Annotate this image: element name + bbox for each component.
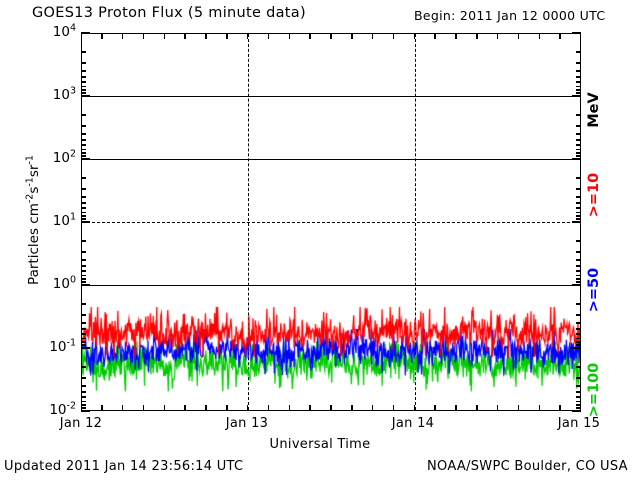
x-tick-top: [268, 33, 269, 39]
y-minor-tick: [81, 133, 86, 134]
x-tick-top: [101, 33, 102, 39]
y-minor-tick-right: [576, 322, 581, 323]
y-major-tick-right: [572, 410, 581, 411]
y-minor-tick-right: [576, 144, 581, 145]
y-minor-tick-right: [576, 404, 581, 405]
x-tick-bottom: [101, 405, 102, 411]
y-minor-tick: [81, 114, 86, 115]
y-minor-tick: [81, 322, 86, 323]
y-minor-tick: [81, 385, 86, 386]
y-tick-label-1e4: 104: [0, 26, 76, 40]
x-tick-top: [247, 33, 248, 39]
x-tick-bottom: [122, 405, 123, 411]
y-minor-tick-right: [576, 265, 581, 266]
y-axis-title-text-3: sr: [26, 165, 42, 178]
y-minor-tick: [81, 207, 86, 208]
y-minor-tick: [81, 139, 86, 140]
y-minor-tick-right: [576, 391, 581, 392]
y-minor-tick-right: [576, 114, 581, 115]
y-tick-label-1e3: 103: [0, 89, 76, 103]
y-minor-tick-right: [576, 212, 581, 213]
x-tick-bottom: [372, 405, 373, 411]
x-tick-bottom: [414, 405, 415, 411]
y-minor-tick-right: [576, 177, 581, 178]
y-minor-tick: [81, 155, 86, 156]
y-minor-tick-right: [576, 270, 581, 271]
y-minor-tick: [81, 333, 86, 334]
y-minor-tick: [81, 92, 86, 93]
y-minor-tick-right: [576, 86, 581, 87]
x-tick-bottom: [393, 405, 394, 411]
y-minor-tick-right: [576, 188, 581, 189]
y-major-tick: [81, 158, 90, 159]
y-minor-tick-right: [576, 215, 581, 216]
y-tick-label-1em1: 10-1: [0, 341, 76, 355]
y-minor-tick-right: [576, 259, 581, 260]
x-tick-top: [393, 33, 394, 39]
x-axis-title: Universal Time: [0, 437, 640, 452]
y-major-tick-right: [572, 221, 581, 222]
y-minor-tick: [81, 202, 86, 203]
y-minor-tick: [81, 270, 86, 271]
x-tick-top: [559, 33, 560, 39]
y-minor-tick-right: [576, 202, 581, 203]
y-tick-label-1e0: 100: [0, 278, 76, 292]
x-tick-bottom: [539, 405, 540, 411]
y-major-tick-right: [572, 284, 581, 285]
y-major-tick-right: [572, 158, 581, 159]
y-minor-tick: [81, 314, 86, 315]
x-tick-bottom: [164, 405, 165, 411]
y-minor-tick: [81, 338, 86, 339]
x-tick-bottom: [184, 405, 185, 411]
y-minor-tick: [81, 215, 86, 216]
y-minor-tick: [81, 177, 86, 178]
y-minor-tick: [81, 51, 86, 52]
y-minor-tick: [81, 89, 86, 90]
y-minor-tick: [81, 76, 86, 77]
y-minor-tick-right: [576, 401, 581, 402]
y-minor-tick: [81, 341, 86, 342]
y-minor-tick: [81, 396, 86, 397]
x-tick-bottom: [559, 405, 560, 411]
y-major-tick-right: [572, 95, 581, 96]
y-minor-tick-right: [576, 240, 581, 241]
y-minor-tick-right: [576, 303, 581, 304]
x-tick-top: [330, 33, 331, 39]
x-tick-label-jan14: Jan 14: [373, 416, 453, 431]
y-minor-tick: [81, 70, 86, 71]
x-tick-top: [518, 33, 519, 39]
y-minor-tick-right: [576, 76, 581, 77]
y-minor-tick-right: [576, 338, 581, 339]
x-tick-top: [414, 33, 415, 39]
y-minor-tick-right: [576, 92, 581, 93]
y-minor-tick-right: [576, 81, 581, 82]
y-minor-tick-right: [576, 333, 581, 334]
x-tick-bottom: [476, 405, 477, 411]
y-major-tick: [81, 221, 90, 222]
y-minor-tick-right: [576, 133, 581, 134]
y-minor-tick-right: [576, 70, 581, 71]
x-tick-bottom: [455, 405, 456, 411]
source-attribution: NOAA/SWPC Boulder, CO USA: [427, 459, 628, 474]
y-minor-tick-right: [576, 366, 581, 367]
y-minor-tick-right: [576, 385, 581, 386]
y-minor-tick-right: [576, 62, 581, 63]
y-minor-tick-right: [576, 278, 581, 279]
x-tick-top: [497, 33, 498, 39]
y-minor-tick-right: [576, 281, 581, 282]
x-tick-bottom: [205, 405, 206, 411]
x-tick-top: [372, 33, 373, 39]
x-tick-label-jan13: Jan 13: [207, 416, 287, 431]
legend-item-ge100: >=100: [586, 315, 602, 465]
x-tick-top: [351, 33, 352, 39]
y-minor-tick-right: [576, 152, 581, 153]
y-major-tick: [81, 284, 90, 285]
y-minor-tick: [81, 144, 86, 145]
y-minor-tick: [81, 391, 86, 392]
y-minor-tick: [81, 149, 86, 150]
y-major-tick: [81, 347, 90, 348]
y-minor-tick-right: [576, 328, 581, 329]
y-minor-tick: [81, 188, 86, 189]
y-minor-tick-right: [576, 139, 581, 140]
y-minor-tick: [81, 344, 86, 345]
y-axis-title-text-2: s: [26, 187, 42, 194]
y-minor-tick: [81, 404, 86, 405]
y-minor-tick: [81, 278, 86, 279]
x-tick-top: [184, 33, 185, 39]
y-minor-tick-right: [576, 344, 581, 345]
updated-timestamp: Updated 2011 Jan 14 23:56:14 UTC: [4, 459, 243, 474]
y-minor-tick: [81, 62, 86, 63]
y-axis-exp-2: -1: [25, 177, 36, 186]
x-tick-bottom: [330, 405, 331, 411]
y-minor-tick: [81, 196, 86, 197]
x-tick-top: [143, 33, 144, 39]
x-tick-label-jan15: Jan 15: [539, 416, 619, 431]
x-tick-bottom: [226, 405, 227, 411]
x-tick-bottom: [497, 405, 498, 411]
y-major-tick-right: [572, 32, 581, 33]
x-tick-bottom: [289, 405, 290, 411]
series-canvas: [82, 34, 581, 411]
y-minor-tick-right: [576, 207, 581, 208]
y-minor-tick: [81, 377, 86, 378]
page-title: GOES13 Proton Flux (5 minute data): [32, 5, 306, 21]
y-major-tick: [81, 32, 90, 33]
plot-area: [81, 33, 581, 411]
y-minor-tick-right: [576, 341, 581, 342]
x-tick-top: [539, 33, 540, 39]
y-minor-tick-right: [576, 377, 581, 378]
y-minor-tick: [81, 218, 86, 219]
x-tick-top: [434, 33, 435, 39]
y-major-tick: [81, 95, 90, 96]
y-minor-tick: [81, 366, 86, 367]
x-tick-top: [164, 33, 165, 39]
goes-proton-flux-plot: GOES13 Proton Flux (5 minute data) Begin…: [0, 0, 640, 480]
y-minor-tick-right: [576, 407, 581, 408]
y-minor-tick-right: [576, 218, 581, 219]
y-minor-tick: [81, 265, 86, 266]
x-tick-top: [476, 33, 477, 39]
y-minor-tick-right: [576, 314, 581, 315]
x-tick-top: [455, 33, 456, 39]
x-tick-bottom: [143, 405, 144, 411]
y-minor-tick: [81, 125, 86, 126]
y-tick-label-1e1: 101: [0, 215, 76, 229]
x-tick-top: [226, 33, 227, 39]
y-minor-tick-right: [576, 51, 581, 52]
y-tick-label-1e2: 102: [0, 152, 76, 166]
x-tick-top: [122, 33, 123, 39]
y-minor-tick-right: [576, 396, 581, 397]
y-major-tick: [81, 410, 90, 411]
y-axis-exp-1: -2: [25, 194, 36, 203]
y-minor-tick: [81, 303, 86, 304]
y-minor-tick: [81, 401, 86, 402]
y-minor-tick: [81, 281, 86, 282]
y-minor-tick-right: [576, 125, 581, 126]
x-tick-bottom: [434, 405, 435, 411]
x-tick-top: [289, 33, 290, 39]
y-minor-tick-right: [576, 251, 581, 252]
x-tick-bottom: [247, 405, 248, 411]
begin-time-label: Begin: 2011 Jan 12 0000 UTC: [414, 8, 605, 23]
y-minor-tick: [81, 328, 86, 329]
x-tick-top: [309, 33, 310, 39]
y-minor-tick: [81, 240, 86, 241]
y-minor-tick-right: [576, 89, 581, 90]
y-minor-tick-right: [576, 155, 581, 156]
y-minor-tick: [81, 259, 86, 260]
x-tick-label-jan12: Jan 12: [41, 416, 121, 431]
y-minor-tick: [81, 152, 86, 153]
y-minor-tick: [81, 86, 86, 87]
y-minor-tick-right: [576, 275, 581, 276]
y-minor-tick-right: [576, 196, 581, 197]
y-minor-tick: [81, 81, 86, 82]
x-tick-bottom: [309, 405, 310, 411]
y-minor-tick: [81, 251, 86, 252]
x-tick-bottom: [518, 405, 519, 411]
x-tick-top: [205, 33, 206, 39]
x-tick-bottom: [268, 405, 269, 411]
y-minor-tick: [81, 212, 86, 213]
y-major-tick-right: [572, 347, 581, 348]
y-minor-tick-right: [576, 149, 581, 150]
y-minor-tick: [81, 407, 86, 408]
y-minor-tick: [81, 275, 86, 276]
x-tick-bottom: [351, 405, 352, 411]
